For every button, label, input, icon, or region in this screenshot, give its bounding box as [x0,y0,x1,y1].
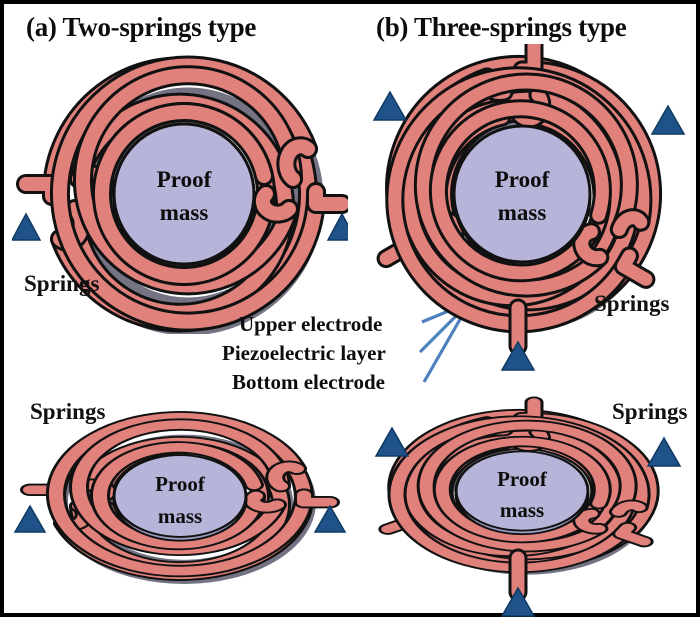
proof-mass-label-line2: mass [498,200,547,225]
anchor-triangle-upper-left-d[interactable] [376,428,408,456]
piezoelectric-layer-label: Piezoelectric layer [222,341,386,366]
proof-mass-b [454,126,590,262]
anchor-triangle-bottom-d[interactable] [502,588,534,616]
springs-label-panel-a-tilted: Springs [30,399,105,425]
proof-mass-label-line1: Proof [497,467,548,491]
springs-label-panel-b-top: Springs [594,291,669,317]
proof-mass-label-line1: Proof [495,167,550,192]
three-springs-tilted-view: Proof mass [362,396,698,621]
panel-a-title: (a) Two-springs type [26,12,256,43]
anchor-triangle-left-a[interactable] [12,214,40,240]
anchor-triangle-upper-right-d[interactable] [648,438,680,466]
figure-frame: (a) Two-springs type (b) Three-springs t… [0,0,700,617]
anchor-triangle-upper-left-b[interactable] [374,92,406,120]
proof-mass-label-line1: Proof [157,167,212,192]
anchor-triangle-bottom-b[interactable] [502,342,534,370]
anchor-triangle-upper-right-b[interactable] [652,106,684,134]
proof-mass-label-line2: mass [160,200,209,225]
proof-mass-a [114,124,254,264]
anchor-triangle-right-c[interactable] [315,506,345,532]
springs-label-panel-a-top: Springs [24,271,99,297]
anchor-triangle-right-a[interactable] [328,214,348,240]
two-springs-tilted-view: Proof mass [12,396,348,606]
proof-mass-label-line2: mass [158,504,202,528]
proof-mass-label-line2: mass [500,498,544,522]
springs-label-panel-b-tilted: Springs [612,399,687,425]
three-springs-top-view: Proof mass [362,44,698,374]
anchor-triangle-left-c[interactable] [15,506,45,532]
bottom-electrode-label: Bottom electrode [232,370,385,395]
panel-b-title: (b) Three-springs type [376,12,626,43]
proof-mass-label-line1: Proof [155,472,206,496]
upper-electrode-label: Upper electrode [239,312,382,337]
